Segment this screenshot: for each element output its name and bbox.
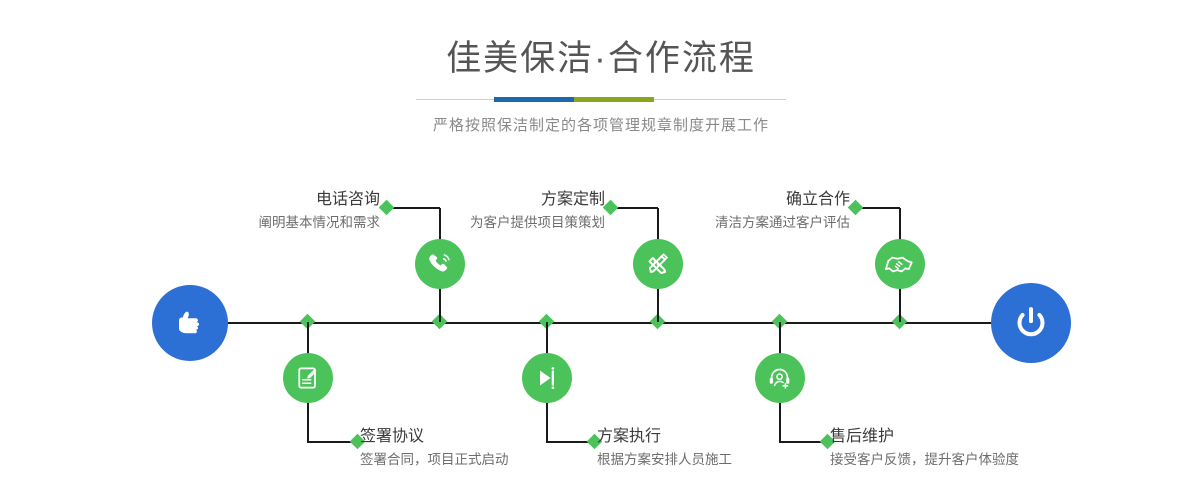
step-desc-3: 为客户提供项目策策划 (345, 213, 605, 233)
step-desc-5: 清洁方案通过客户评估 (590, 213, 850, 233)
step-label-3: 方案定制 为客户提供项目策策划 (345, 190, 605, 233)
step-title-6: 售后维护 (830, 427, 1160, 447)
power-icon (1008, 300, 1054, 346)
pencil-ruler-icon (643, 249, 673, 279)
step-node-1[interactable] (415, 239, 465, 289)
play-skip-icon (533, 364, 561, 392)
page-title: 佳美保洁·合作流程 (0, 38, 1202, 80)
phone-call-icon (425, 249, 455, 279)
step-title-1: 电话咨询 (120, 190, 380, 210)
timeline-axis (160, 322, 1040, 324)
end-node[interactable] (991, 283, 1071, 363)
title-divider (416, 96, 786, 104)
step-label-6: 售后维护 接受客户反馈，提升客户体验度 (830, 427, 1160, 470)
divider-segment-green (574, 97, 654, 102)
step-desc-6: 接受客户反馈，提升客户体验度 (830, 450, 1160, 470)
page-header: 佳美保洁·合作流程 严格按照保洁制定的各项管理规章制度开展工作 (0, 0, 1202, 135)
step-title-5: 确立合作 (590, 190, 850, 210)
pointing-hand-icon (168, 301, 212, 345)
customer-service-icon (766, 364, 794, 392)
divider-segment-blue (494, 97, 574, 102)
flowchart-canvas: 佳美保洁·合作流程 严格按照保洁制定的各项管理规章制度开展工作 电话 (0, 0, 1202, 502)
step-desc-1: 阐明基本情况和需求 (120, 213, 380, 233)
step-node-3[interactable] (633, 239, 683, 289)
step-title-3: 方案定制 (345, 190, 605, 210)
handshake-icon (885, 249, 915, 279)
page-subtitle: 严格按照保洁制定的各项管理规章制度开展工作 (0, 114, 1202, 135)
document-edit-icon (294, 364, 322, 392)
step-node-4[interactable] (522, 353, 572, 403)
step-node-2[interactable] (283, 353, 333, 403)
start-node[interactable] (152, 285, 228, 361)
step-label-5: 确立合作 清洁方案通过客户评估 (590, 190, 850, 233)
step-label-1: 电话咨询 阐明基本情况和需求 (120, 190, 380, 233)
step-node-5[interactable] (875, 239, 925, 289)
step-node-6[interactable] (755, 353, 805, 403)
label-marker-5 (848, 200, 864, 216)
